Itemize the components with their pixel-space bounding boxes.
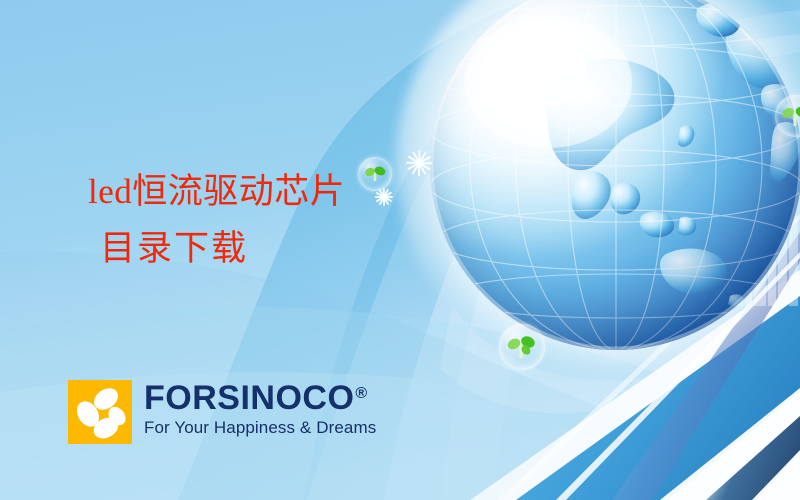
green-sprout-icon [775, 95, 800, 137]
logo-tagline: For Your Happiness & Dreams [144, 419, 376, 436]
bubble-sprout-left [358, 157, 392, 191]
logo-wordmark-text: FORSINOCO [144, 379, 354, 417]
sparkle-large-icon [406, 150, 432, 176]
bubble-sprout-center [499, 324, 545, 370]
green-sprout-icon [499, 324, 545, 370]
logo-wordmark: FORSINOCO® [144, 381, 376, 415]
headline-line-2: 目录下载 [100, 221, 345, 278]
promo-banner: led恒流驱动芯片 目录下载 FORSINOCO® For Your Happi… [0, 0, 800, 500]
globe-sphere [430, 0, 800, 350]
headline-line-1: led恒流驱动芯片 [88, 164, 345, 221]
bubble-sprout-right [775, 95, 800, 137]
page-title: led恒流驱动芯片 目录下载 [88, 164, 345, 277]
company-logo: FORSINOCO® For Your Happiness & Dreams [68, 380, 376, 444]
four-petal-pinwheel-mark-icon [68, 380, 132, 444]
world-globe [430, 0, 800, 350]
registered-trademark-symbol: ® [355, 385, 367, 402]
globe-surface [430, 0, 800, 350]
green-sprout-icon [358, 157, 392, 191]
